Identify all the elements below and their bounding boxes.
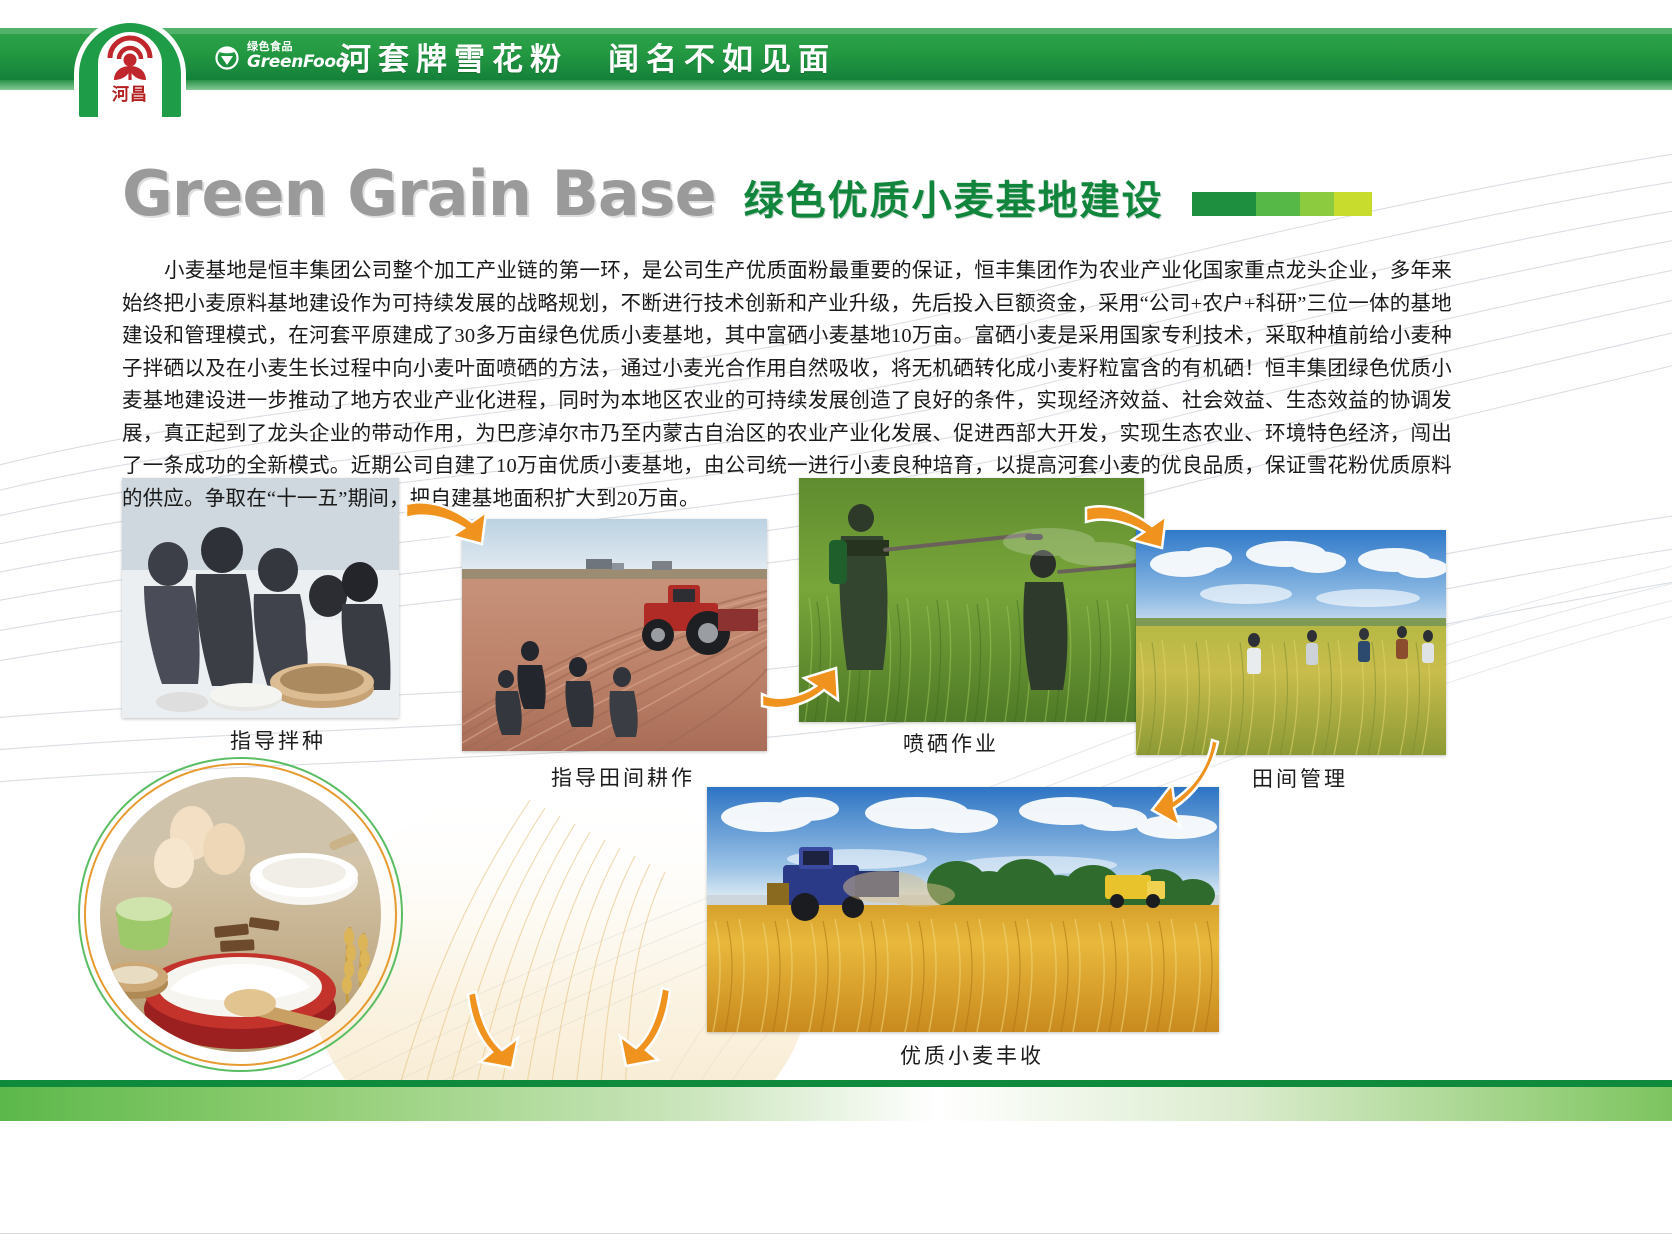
title-bar-1 bbox=[1192, 192, 1256, 216]
caption-harvest: 优质小麦丰收 bbox=[900, 1040, 1044, 1070]
arrow-seed-to-tillage bbox=[402, 498, 492, 552]
greenfood-label-en: GreenFood bbox=[247, 54, 348, 71]
caption-selenium-spray: 喷硒作业 bbox=[903, 728, 999, 758]
title-color-bars bbox=[1192, 192, 1372, 225]
photo-harvest[interactable] bbox=[707, 787, 1219, 1032]
greenfood-badge[interactable]: 绿色食品 GreenFood bbox=[214, 36, 348, 76]
slogan-brand: 河套牌雪花粉 bbox=[340, 34, 568, 79]
photo-field-mgmt[interactable] bbox=[1136, 530, 1446, 755]
photo-flour-oval-image bbox=[100, 777, 381, 1052]
photo-field-tillage-image bbox=[462, 519, 767, 751]
footer-gradient-band bbox=[0, 1087, 1672, 1121]
caption-field-mgmt: 田间管理 bbox=[1252, 763, 1348, 793]
photo-flour-oval[interactable] bbox=[78, 757, 403, 1072]
logo-tulip-icon bbox=[100, 32, 160, 86]
caption-seed-mixing: 指导拌种 bbox=[230, 725, 326, 755]
header-band-shadow bbox=[0, 80, 1672, 90]
photo-field-tillage[interactable] bbox=[462, 519, 767, 751]
body-paragraph: 小麦基地是恒丰集团公司整个加工产业链的第一环，是公司生产优质面粉最重要的保证，恒… bbox=[122, 255, 1452, 515]
greenfood-leaf-icon bbox=[214, 42, 240, 70]
title-bar-3 bbox=[1300, 192, 1334, 216]
footer-green-line bbox=[0, 1080, 1672, 1087]
title-chinese: 绿色优质小麦基地建设 bbox=[744, 181, 1164, 225]
footer-white-area bbox=[0, 1121, 1672, 1240]
page-footer bbox=[0, 1080, 1672, 1240]
greenfood-label-cn: 绿色食品 bbox=[247, 41, 348, 52]
photo-harvest-image bbox=[707, 787, 1219, 1032]
title-english: Green Grain Base bbox=[122, 163, 716, 225]
company-logo[interactable]: 河昌 bbox=[74, 18, 186, 122]
title-bar-2 bbox=[1256, 192, 1300, 216]
logo-company-name: 河昌 bbox=[98, 80, 162, 105]
title-bar-4 bbox=[1334, 192, 1372, 216]
footer-hairline bbox=[0, 1233, 1672, 1234]
page-title: Green Grain Base 绿色优质小麦基地建设 bbox=[122, 163, 1372, 225]
caption-field-tillage: 指导田间耕作 bbox=[551, 762, 695, 792]
header-band-highlight bbox=[0, 28, 1672, 34]
slogan-tagline: 闻名不如见面 bbox=[608, 34, 836, 79]
header-slogans: 河套牌雪花粉 闻名不如见面 bbox=[340, 34, 836, 78]
arrow-down-right bbox=[606, 984, 676, 1068]
arrow-mgmt-to-harvest bbox=[1150, 736, 1226, 832]
arrow-spray-to-mgmt bbox=[1082, 500, 1170, 554]
arrow-down-left bbox=[462, 988, 532, 1070]
photo-field-mgmt-image bbox=[1136, 530, 1446, 755]
page-header: 河昌 绿色食品 GreenFood 河套牌雪花粉 闻名不如见面 bbox=[0, 28, 1672, 94]
arrow-tillage-to-spray bbox=[758, 662, 844, 718]
